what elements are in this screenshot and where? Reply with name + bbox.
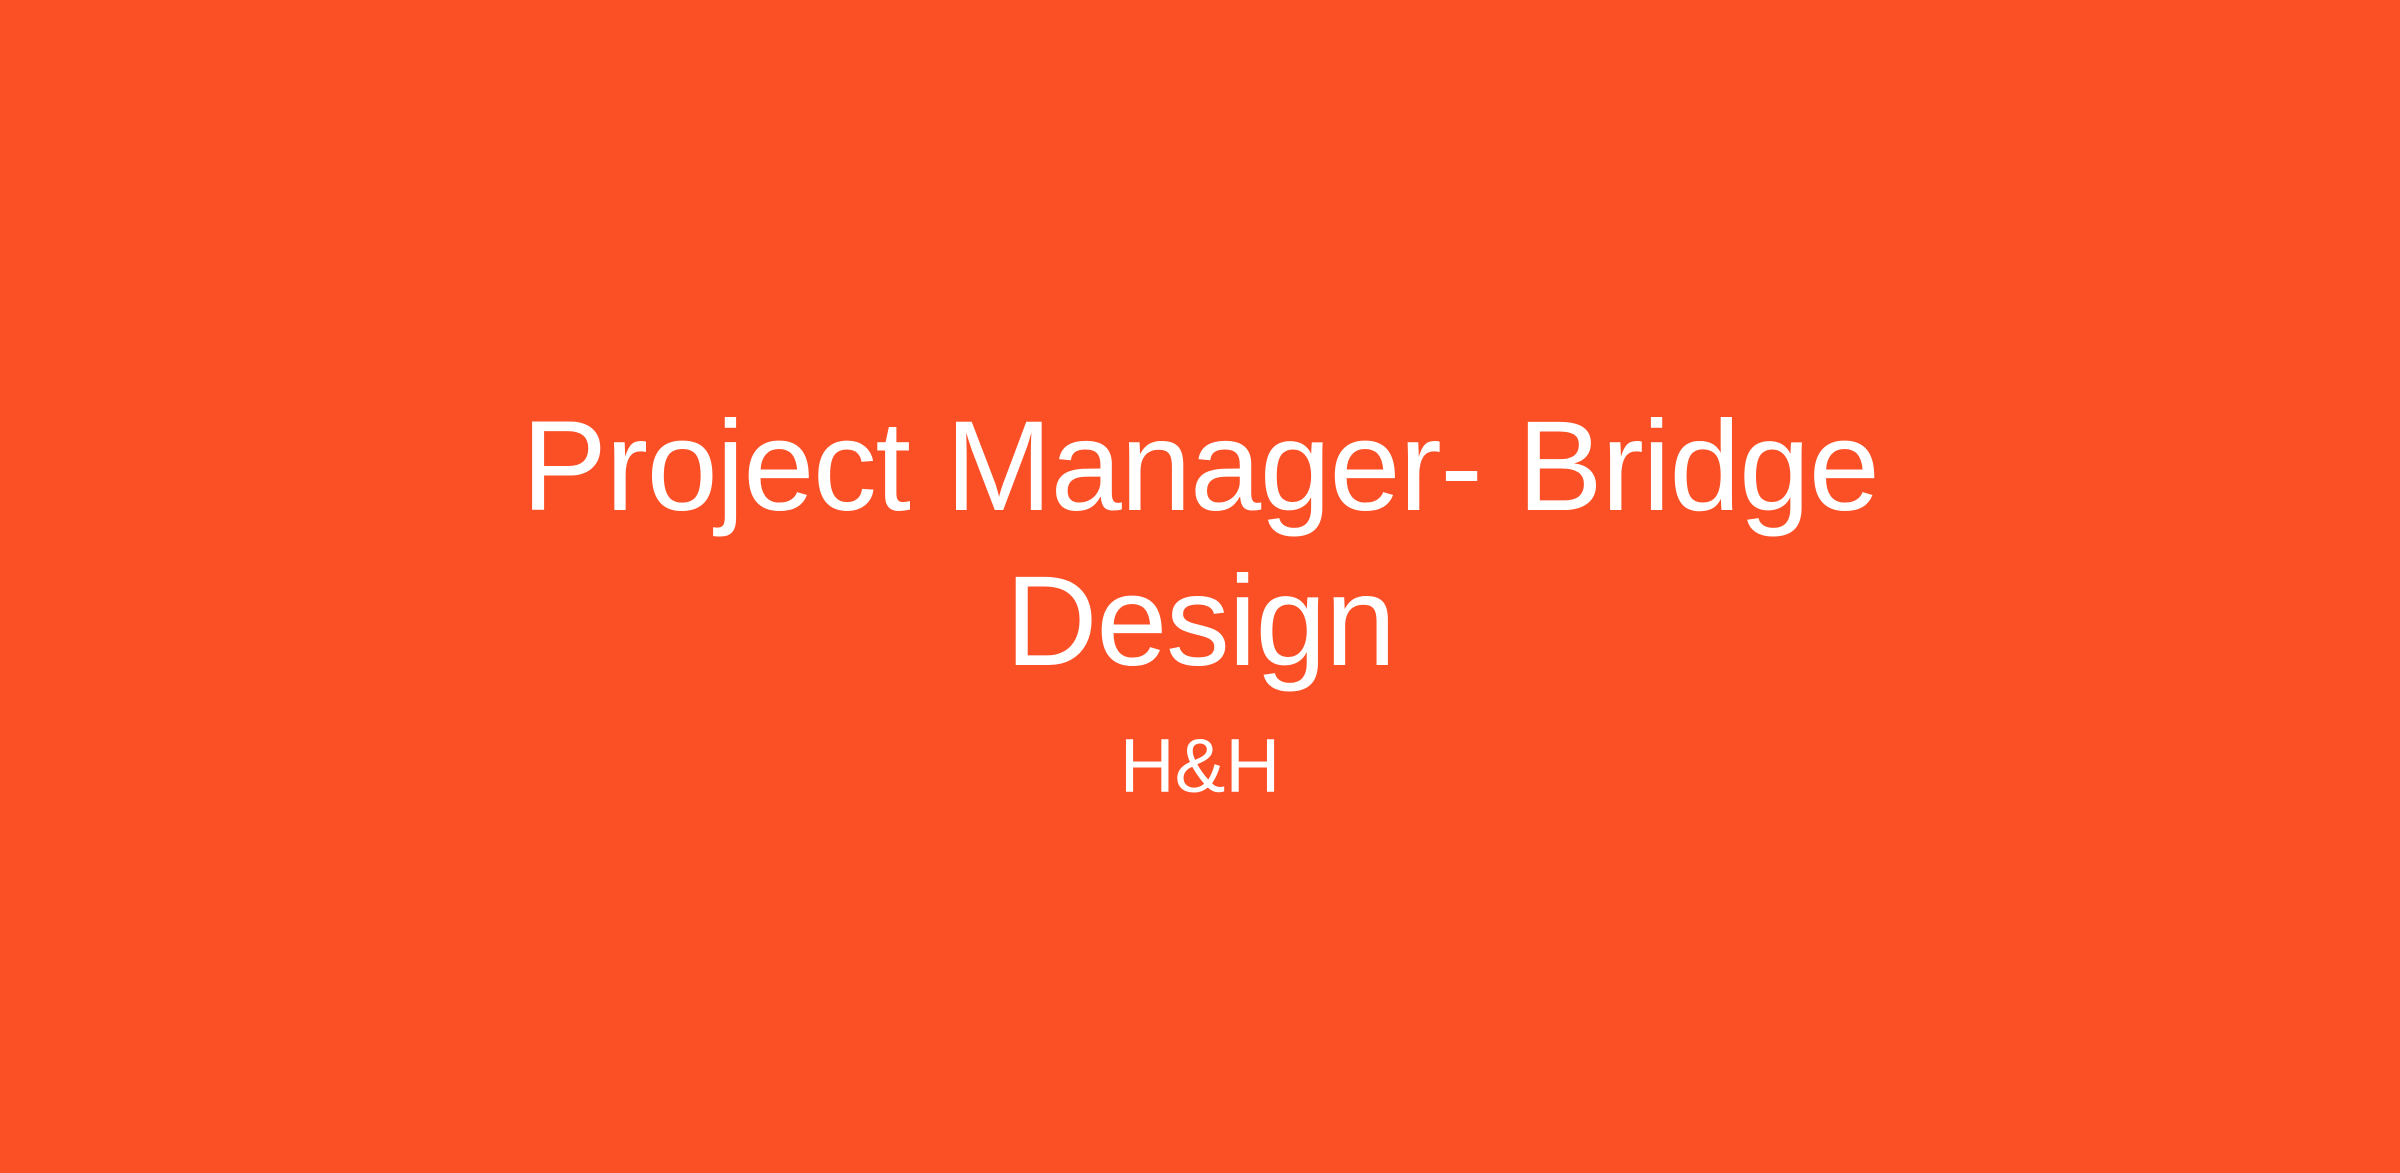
page-title: Project Manager- Bridge Design xyxy=(420,389,1980,699)
page-subtitle: H&H xyxy=(420,699,1980,809)
slide-canvas: Project Manager- Bridge Design H&H xyxy=(0,0,2400,1173)
title-block: Project Manager- Bridge Design H&H xyxy=(420,389,1980,809)
